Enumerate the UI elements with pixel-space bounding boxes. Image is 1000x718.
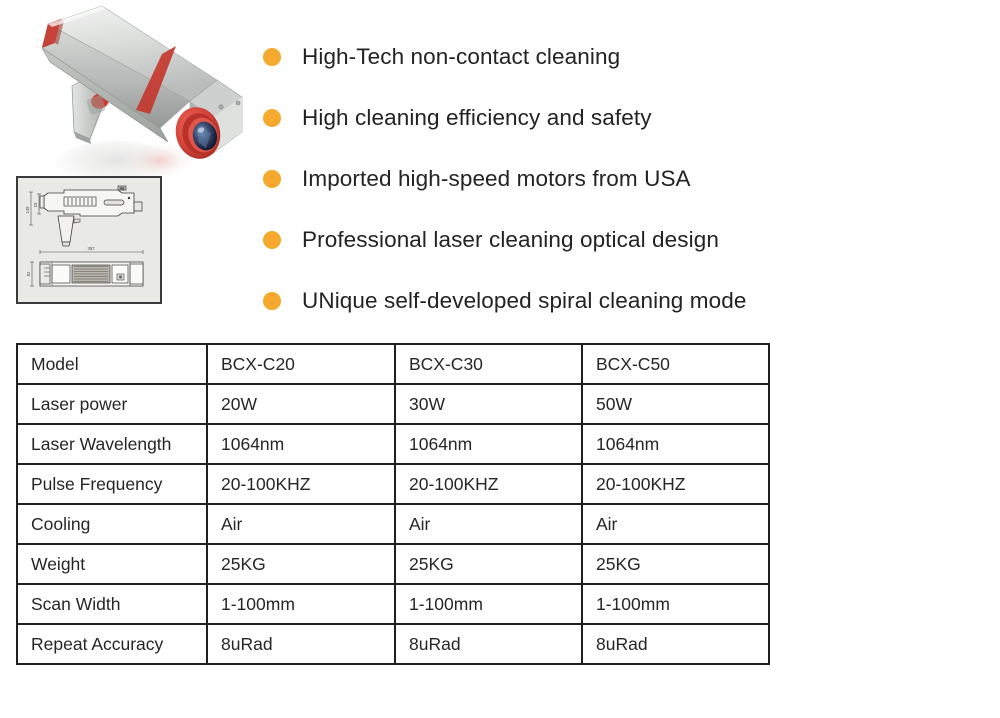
table-row: Repeat Accuracy 8uRad 8uRad 8uRad	[17, 624, 769, 664]
spec-value-c50: 25KG	[582, 544, 769, 584]
spec-value-c30: 8uRad	[395, 624, 582, 664]
spec-value-c20: BCX-C20	[207, 344, 395, 384]
spec-label: Repeat Accuracy	[17, 624, 207, 664]
spec-value-c20: 8uRad	[207, 624, 395, 664]
specification-table-container: Model BCX-C20 BCX-C30 BCX-C50 Laser powe…	[16, 343, 768, 665]
spec-label: Model	[17, 344, 207, 384]
feature-item: High cleaning efficiency and safety	[263, 87, 963, 148]
spec-value-c50: 20-100KHZ	[582, 464, 769, 504]
feature-label: UNique self-developed spiral cleaning mo…	[302, 288, 746, 314]
spec-value-c20: 1-100mm	[207, 584, 395, 624]
feature-list: High-Tech non-contact cleaning High clea…	[263, 26, 963, 331]
spec-value-c20: 20W	[207, 384, 395, 424]
specification-table: Model BCX-C20 BCX-C30 BCX-C50 Laser powe…	[16, 343, 770, 665]
table-row: Scan Width 1-100mm 1-100mm 1-100mm	[17, 584, 769, 624]
spec-label: Laser Wavelength	[17, 424, 207, 464]
spec-value-c50: 8uRad	[582, 624, 769, 664]
feature-item: Imported high-speed motors from USA	[263, 148, 963, 209]
dim-53: 53	[33, 202, 38, 207]
technical-drawing-inset: 149 53 357 92	[16, 176, 162, 304]
spec-value-c50: 1064nm	[582, 424, 769, 464]
table-row: Laser Wavelength 1064nm 1064nm 1064nm	[17, 424, 769, 464]
feature-label: Professional laser cleaning optical desi…	[302, 227, 719, 253]
dim-149: 149	[25, 206, 30, 214]
bullet-dot-icon	[263, 48, 281, 66]
product-photo	[14, 2, 264, 187]
dim-357: 357	[88, 246, 96, 251]
feature-item: UNique self-developed spiral cleaning mo…	[263, 270, 963, 331]
spec-label: Scan Width	[17, 584, 207, 624]
table-row: Weight 25KG 25KG 25KG	[17, 544, 769, 584]
spec-value-c20: 1064nm	[207, 424, 395, 464]
spec-value-c50: 1-100mm	[582, 584, 769, 624]
spec-value-c30: 1064nm	[395, 424, 582, 464]
spec-label: Cooling	[17, 504, 207, 544]
spec-value-c30: 20-100KHZ	[395, 464, 582, 504]
spec-value-c20: 25KG	[207, 544, 395, 584]
spec-value-c30: 1-100mm	[395, 584, 582, 624]
feature-label: High-Tech non-contact cleaning	[302, 44, 620, 70]
feature-label: Imported high-speed motors from USA	[302, 166, 691, 192]
bullet-dot-icon	[263, 170, 281, 188]
product-photo-illustration	[14, 2, 264, 187]
feature-item: Professional laser cleaning optical desi…	[263, 209, 963, 270]
bullet-dot-icon	[263, 292, 281, 310]
spec-label: Weight	[17, 544, 207, 584]
table-row: Pulse Frequency 20-100KHZ 20-100KHZ 20-1…	[17, 464, 769, 504]
spec-value-c30: 25KG	[395, 544, 582, 584]
spec-label: Laser power	[17, 384, 207, 424]
table-row: Cooling Air Air Air	[17, 504, 769, 544]
bullet-dot-icon	[263, 231, 281, 249]
table-row: Model BCX-C20 BCX-C30 BCX-C50	[17, 344, 769, 384]
feature-label: High cleaning efficiency and safety	[302, 105, 652, 131]
feature-item: High-Tech non-contact cleaning	[263, 26, 963, 87]
spec-value-c20: Air	[207, 504, 395, 544]
cad-drawing-illustration: 149 53 357 92	[18, 178, 160, 302]
spec-value-c50: Air	[582, 504, 769, 544]
spec-value-c20: 20-100KHZ	[207, 464, 395, 504]
spec-value-c30: 30W	[395, 384, 582, 424]
spec-value-c50: 50W	[582, 384, 769, 424]
spec-value-c50: BCX-C50	[582, 344, 769, 384]
dim-92: 92	[26, 271, 31, 276]
spec-label: Pulse Frequency	[17, 464, 207, 504]
bullet-dot-icon	[263, 109, 281, 127]
spec-value-c30: Air	[395, 504, 582, 544]
table-row: Laser power 20W 30W 50W	[17, 384, 769, 424]
spec-value-c30: BCX-C30	[395, 344, 582, 384]
